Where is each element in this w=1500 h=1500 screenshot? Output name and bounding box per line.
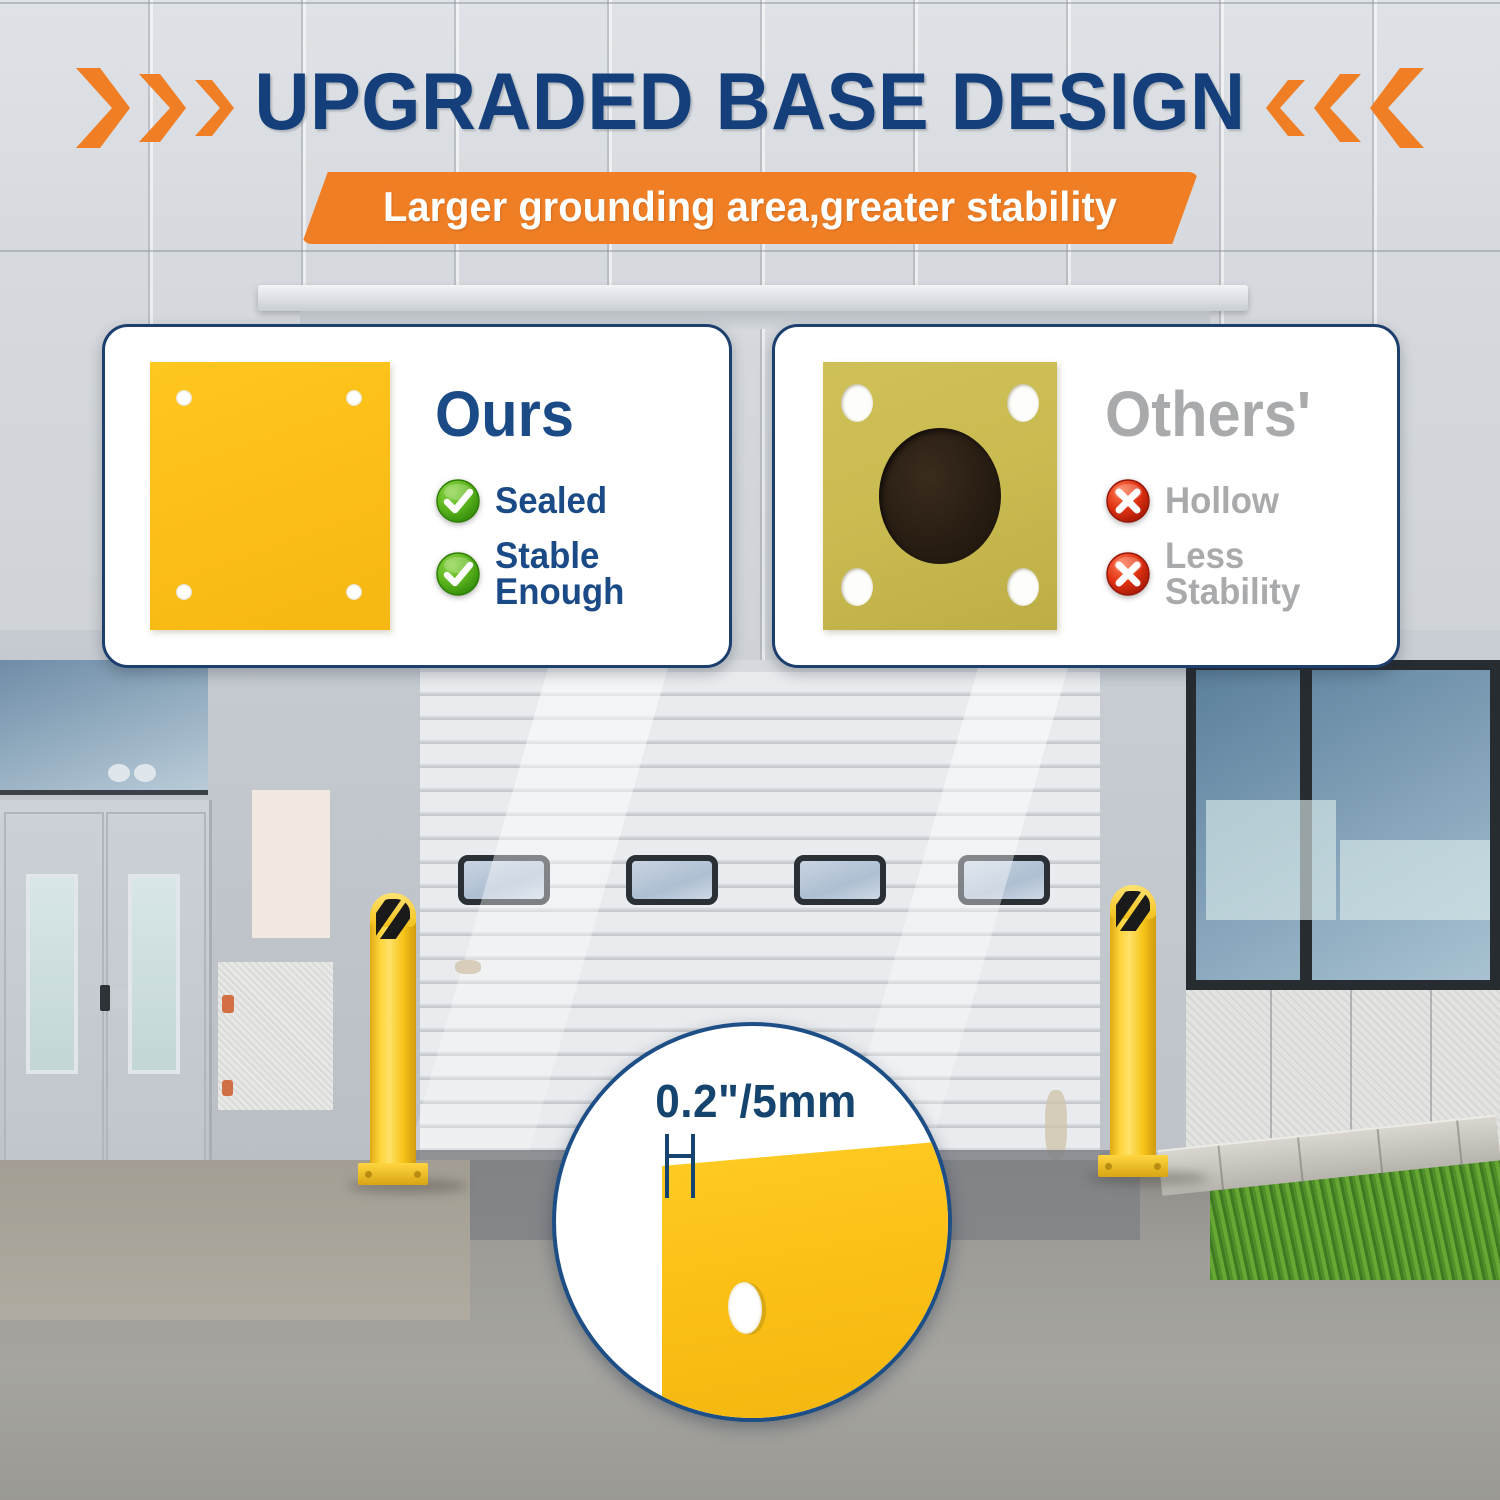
comparison-card-ours: Ours	[102, 324, 732, 668]
bolt-slot-icon	[1007, 384, 1039, 422]
red-x-icon	[1105, 478, 1151, 524]
bolt-slot-icon	[841, 568, 873, 606]
comparison-card-others: Others'	[772, 324, 1400, 668]
roll-door-window	[626, 855, 718, 905]
hollow-center-hole	[879, 428, 1001, 564]
bolt-slot-icon	[841, 384, 873, 422]
hazard-stripe-icon	[1116, 891, 1150, 931]
red-x-icon	[1105, 551, 1151, 597]
bolt-hole-icon	[176, 584, 192, 600]
bolt-hole-icon	[346, 584, 362, 600]
hollow-base-plate-icon	[823, 362, 1057, 630]
door-scuff	[455, 960, 481, 974]
ours-feature-stable: Stable Enough	[435, 538, 633, 611]
subtitle-banner: Larger grounding area,greater stability	[302, 172, 1199, 244]
door-handle-icon	[100, 985, 110, 1011]
feature-label: Sealed	[495, 483, 607, 519]
solid-base-plate-icon	[150, 362, 390, 630]
transom-window	[0, 660, 208, 795]
thickness-measurement-label: 0.2"/5mm	[564, 1074, 948, 1128]
ours-title: Ours	[435, 382, 574, 446]
others-feature-hollow: Hollow	[1105, 478, 1286, 524]
feature-label-line2: Stability	[1165, 574, 1300, 610]
bolt-hole-icon	[176, 390, 192, 406]
wall-panel-stucco	[218, 962, 333, 1110]
feature-label: Hollow	[1165, 483, 1279, 519]
infographic-canvas: UPGRADED BASE DESIGN Larger grounding ar…	[0, 0, 1500, 1500]
curb-seam	[1377, 1129, 1384, 1175]
door-canopy	[258, 285, 1248, 311]
curb-seam	[1297, 1137, 1304, 1183]
door-window	[26, 874, 78, 1074]
ours-plate-column	[105, 362, 435, 630]
hazard-stripe-icon	[376, 899, 410, 939]
others-text-column: Others'	[1105, 382, 1397, 611]
feature-label-stack: Less Stability	[1165, 538, 1309, 611]
page-title: UPGRADED BASE DESIGN	[45, 62, 1455, 143]
feature-label-line1: Stable	[495, 538, 624, 574]
thickness-bracket-icon	[663, 1134, 709, 1203]
feature-label-line2: Enough	[495, 574, 624, 610]
others-plate-column	[775, 362, 1105, 630]
glass-reflection	[1206, 800, 1336, 920]
roll-door-window	[958, 855, 1050, 905]
others-title: Others'	[1105, 382, 1311, 446]
roll-door-window	[458, 855, 550, 905]
wall-horizontal-seam	[0, 250, 1500, 252]
lamp-icon	[134, 764, 156, 782]
curb-seam	[1217, 1146, 1224, 1192]
door-push-plate	[112, 988, 128, 1008]
green-check-icon	[435, 478, 481, 524]
glass-reflection	[1340, 840, 1490, 920]
feature-label-stack: Stable Enough	[495, 538, 633, 611]
wall-horizontal-seam	[0, 2, 1500, 4]
lamp-icon	[108, 764, 130, 782]
ours-text-column: Ours	[435, 382, 729, 611]
wall-stain	[222, 1080, 233, 1096]
others-feature-less-stability: Less Stability	[1105, 538, 1309, 611]
roll-door-window	[794, 855, 886, 905]
door-window	[128, 874, 180, 1074]
door-leaf-left	[4, 812, 104, 1197]
feature-label-line1: Less	[1165, 538, 1300, 574]
wall-stain	[222, 995, 234, 1013]
curb-seam	[1456, 1121, 1463, 1167]
bolt-slot-icon	[1007, 568, 1039, 606]
thickness-callout-circle: 0.2"/5mm	[552, 1022, 952, 1422]
wall-panel-cream	[252, 790, 330, 938]
ours-feature-sealed: Sealed	[435, 478, 614, 524]
bollard-base-plate	[358, 1163, 428, 1185]
bolt-hole-icon	[346, 390, 362, 406]
subtitle-text: Larger grounding area,greater stability	[383, 183, 1117, 231]
bollard-base-plate	[1098, 1155, 1168, 1177]
green-check-icon	[435, 551, 481, 597]
